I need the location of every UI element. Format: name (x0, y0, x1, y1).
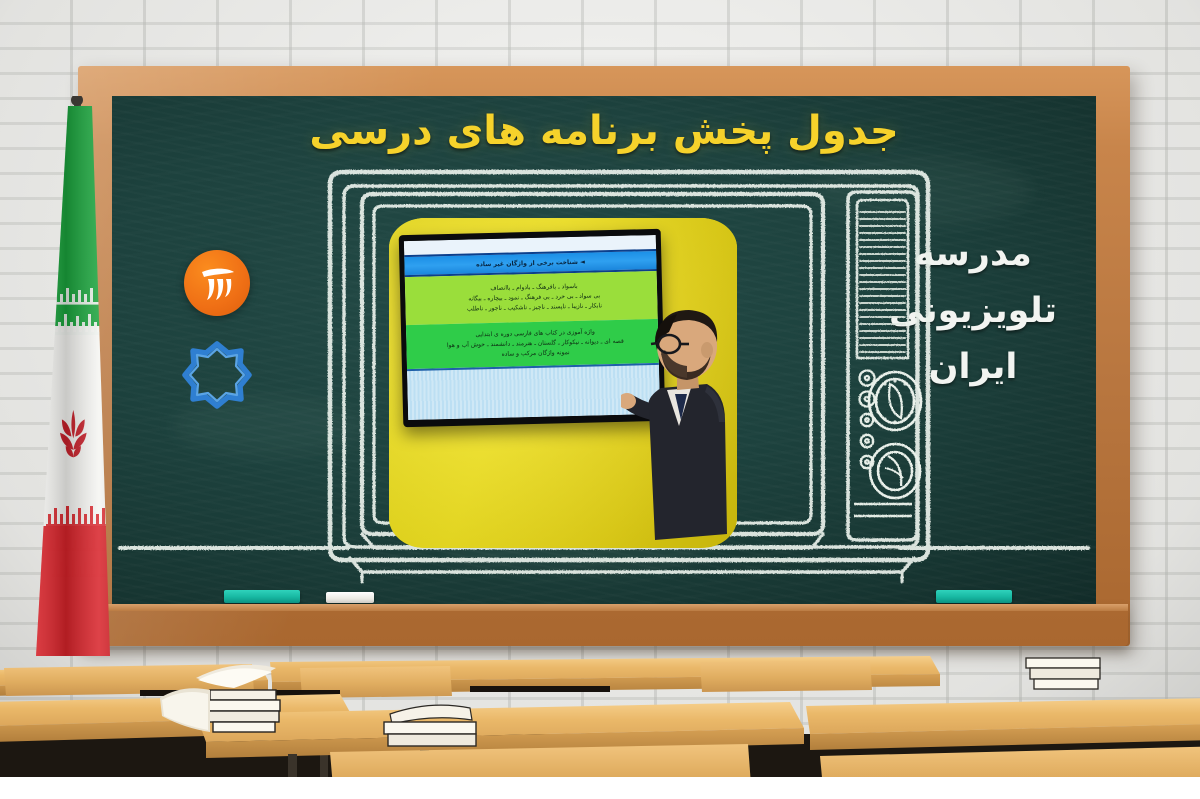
slide-row-1: باسواد ـ بافرهنگ ـ بادوام ـ باانصاف بی س… (405, 271, 658, 325)
ledge-top-highlight (80, 604, 1128, 611)
program-name-line-1: مدرسه (858, 226, 1088, 283)
education-ministry-logo-icon (178, 336, 256, 414)
chalk-smudge (812, 156, 1032, 226)
chalk-ledge (80, 604, 1128, 646)
tv-screen-content: ◄ شناخت برخی از واژگان غیر ساده باسواد ـ… (389, 218, 737, 548)
teacher-figure (621, 302, 737, 548)
book-stack (384, 705, 476, 746)
eraser-left[interactable] (224, 590, 300, 603)
book-stack (6, 704, 58, 713)
chalkboard-surface: جدول پخش برنامه های درسی مدرسه تلویزیونی… (112, 96, 1096, 604)
program-name-line-3: ایران (858, 339, 1088, 396)
eraser-right[interactable] (936, 590, 1012, 603)
book-stack (1026, 658, 1100, 689)
chalk-stick-left[interactable] (326, 592, 374, 603)
program-name-block: مدرسه تلویزیونی ایران (858, 226, 1088, 396)
floor-strip (0, 777, 1200, 799)
irib-logo-icon (184, 250, 250, 316)
page-title: جدول پخش برنامه های درسی (112, 108, 1096, 154)
program-name-line-2: تلویزیونی (858, 283, 1088, 340)
classroom-scene: جدول پخش برنامه های درسی مدرسه تلویزیونی… (0, 0, 1200, 799)
iran-flag (6, 96, 156, 676)
